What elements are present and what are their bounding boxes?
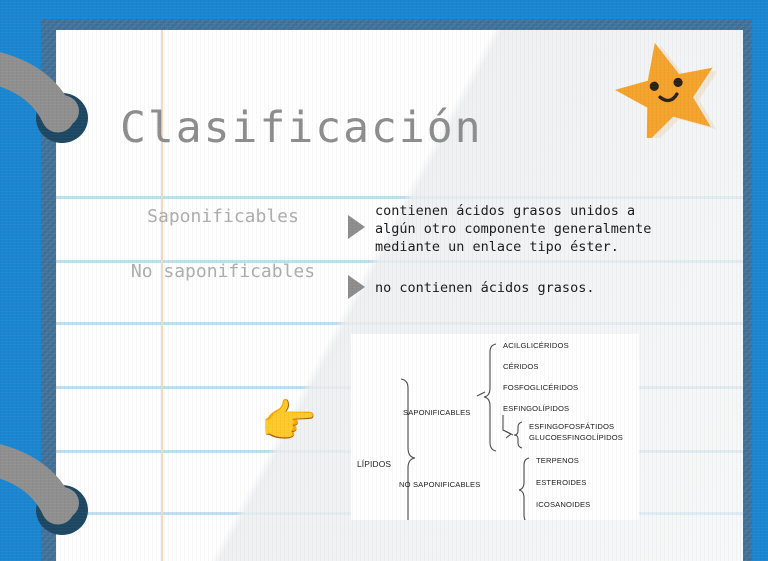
lipid-classification-diagram: LÍPIDOS SAPONIFICABLES NO SAPONIFICABLES… <box>351 334 639 520</box>
diagram-subleaf: GLUCOESFINGOLÍPIDOS <box>529 433 623 442</box>
diagram-leaf: TERPENOS <box>536 456 579 465</box>
pointing-right-hand-emoji: 👉 <box>260 398 317 444</box>
diagram-leaf: ICOSANOIDES <box>536 500 590 509</box>
star-smiley-sticker <box>612 38 716 138</box>
triangle-right-icon <box>348 215 365 239</box>
paperclip-curve-icon <box>0 28 117 148</box>
paperclip-curve-icon <box>0 420 117 540</box>
diagram-leaf: ESFINGOLÍPIDOS <box>503 404 569 413</box>
diagram-leaf: CÉRIDOS <box>503 362 539 371</box>
triangle-right-icon <box>348 275 365 299</box>
diagram-leaf: FOSFOGLICÉRIDOS <box>503 383 578 392</box>
diagram-branch-saponificables: SAPONIFICABLES <box>403 408 471 417</box>
diagram-root-label: LÍPIDOS <box>357 459 391 469</box>
page-title: Clasificación <box>120 103 483 153</box>
description-no-saponificables: no contienen ácidos grasos. <box>375 280 675 298</box>
diagram-leaf: ESTEROIDES <box>536 478 586 487</box>
term-saponificables: Saponificables <box>108 206 338 229</box>
diagram-branch-no-saponificables: NO SAPONIFICABLES <box>399 480 480 489</box>
diagram-leaf: ACILGLICÉRIDOS <box>503 341 569 350</box>
description-saponificables: contienen ácidos grasos unidos a algún o… <box>375 203 675 256</box>
diagram-subleaf: ESFINGOFOSFÁTIDOS <box>529 422 614 431</box>
slide-canvas: Clasificación Saponificables contienen á… <box>0 0 768 561</box>
term-no-saponificables: No saponificables <box>108 261 338 284</box>
